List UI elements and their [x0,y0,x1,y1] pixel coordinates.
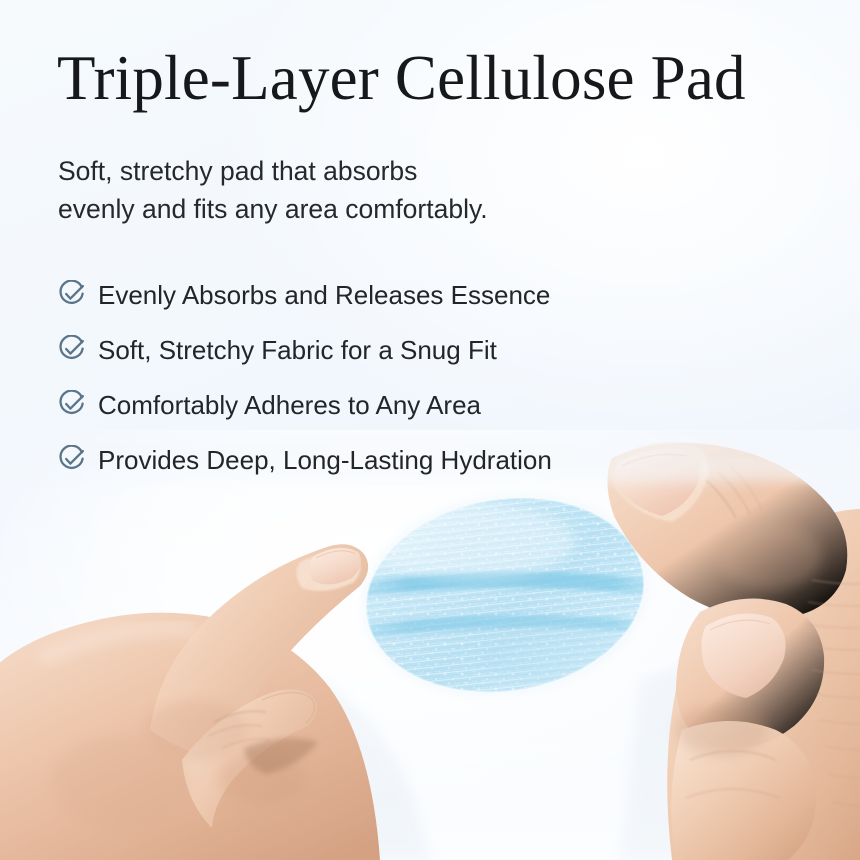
list-item: Provides Deep, Long-Lasting Hydration [57,432,797,487]
product-feature-card: Triple-Layer Cellulose Pad Soft, stretch… [0,0,860,860]
list-item: Soft, Stretchy Fabric for a Snug Fit [57,322,797,377]
page-title: Triple-Layer Cellulose Pad [57,47,746,110]
list-item-label: Comfortably Adheres to Any Area [98,390,481,420]
hands-holding-pad-illustration [0,430,860,860]
list-item-label: Soft, Stretchy Fabric for a Snug Fit [98,335,497,365]
product-photo [0,430,860,860]
right-hand [607,443,860,860]
check-circle-icon [57,335,86,364]
check-circle-icon [57,445,86,474]
subtitle: Soft, stretchy pad that absorbs evenly a… [58,152,488,228]
check-circle-icon [57,280,86,309]
left-hand [0,544,430,860]
list-item: Evenly Absorbs and Releases Essence [57,267,797,322]
list-item-label: Provides Deep, Long-Lasting Hydration [98,445,552,475]
list-item: Comfortably Adheres to Any Area [57,377,797,432]
check-circle-icon [57,390,86,419]
list-item-label: Evenly Absorbs and Releases Essence [98,280,550,310]
feature-list: Evenly Absorbs and Releases Essence Soft… [57,267,797,487]
